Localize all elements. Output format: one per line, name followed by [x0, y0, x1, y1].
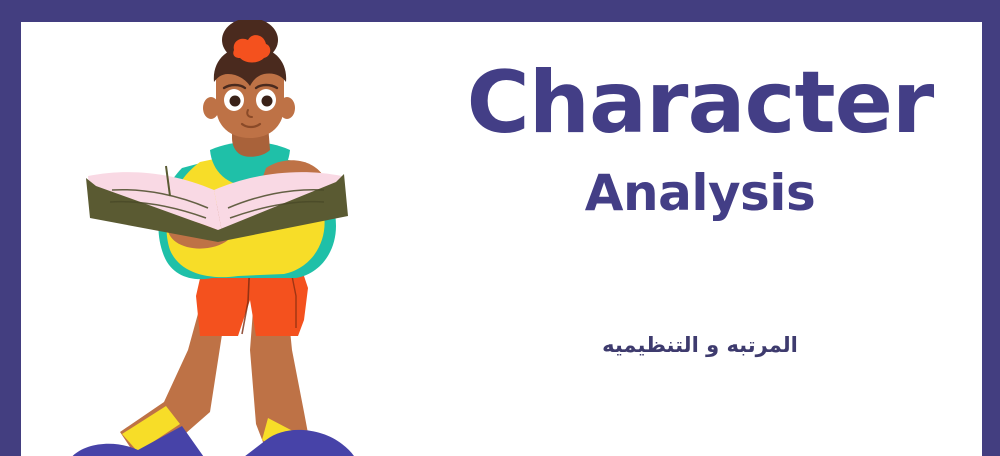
pupil-left: [230, 96, 241, 107]
person-reading-book-illustration: [60, 20, 400, 456]
text-content-block: Character Analysis المرتبه و التنظيميه: [420, 0, 980, 456]
pupil-right: [262, 96, 273, 107]
page-title: Character: [420, 60, 980, 146]
frame-left-border: [0, 0, 21, 456]
arabic-subtitle: المرتبه و التنظيميه: [420, 332, 980, 359]
shoe-right: [236, 430, 358, 456]
page-subtitle: Analysis: [420, 168, 980, 218]
slide-canvas: Character Analysis المرتبه و التنظيميه: [0, 0, 1000, 456]
frame-right-border: [982, 0, 1000, 456]
